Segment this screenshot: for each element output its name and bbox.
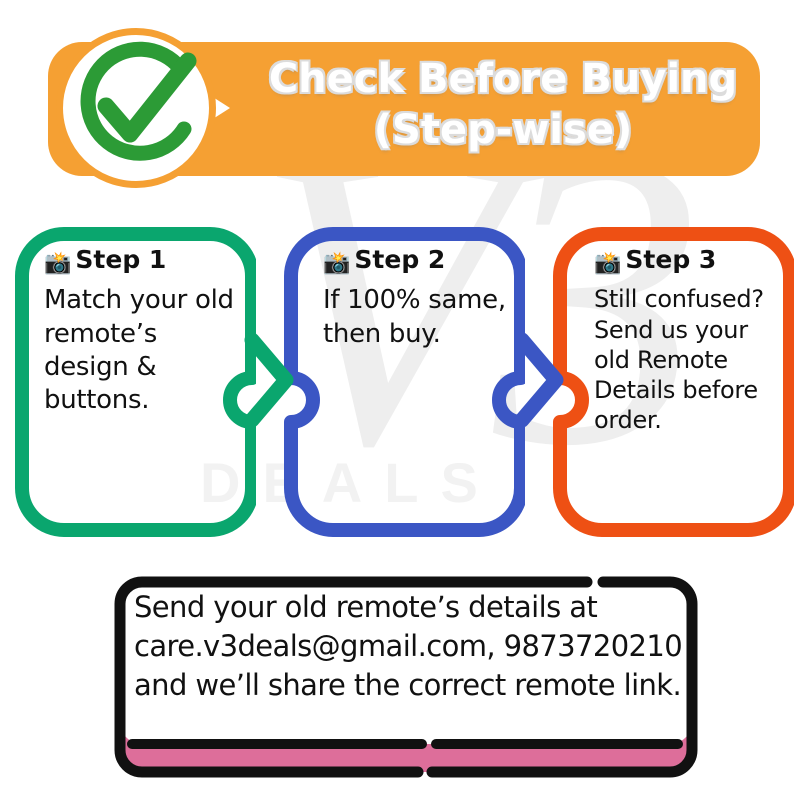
header-title: Check Before Buying (Step-wise) — [253, 54, 753, 156]
header-banner: Check Before Buying (Step-wise) — [48, 28, 760, 176]
step-card-3[interactable]: 📸Step 3 Still confused? Send us your old… — [552, 226, 794, 538]
step-card-3-body: 📸Step 3 Still confused? Send us your old… — [594, 246, 784, 435]
step-2-text: If 100% same, then buy. — [323, 284, 513, 351]
camera-with-flash-icon: 📸 — [44, 251, 71, 276]
green-checkmark-circle-icon — [62, 34, 212, 184]
step-2-label: Step 2 — [354, 245, 445, 274]
step-1-text: Match your old remote’s design & buttons… — [44, 284, 234, 417]
header-title-line-1: Check Before Buying — [253, 54, 753, 105]
chevron-right-arrow-icon-2 — [510, 330, 570, 430]
step-card-1-body: 📸Step 1 Match your old remote’s design &… — [44, 246, 234, 417]
header-title-line-2: (Step-wise) — [253, 105, 753, 156]
step-1-heading: 📸Step 1 — [44, 246, 234, 276]
contact-note-box[interactable]: Send your old remote’s details at care.v… — [102, 572, 710, 778]
steps-row: 📸Step 1 Match your old remote’s design &… — [0, 226, 800, 546]
step-card-1[interactable]: 📸Step 1 Match your old remote’s design &… — [14, 226, 256, 538]
step-card-2[interactable]: 📸Step 2 If 100% same, then buy. — [283, 226, 525, 538]
step-3-label: Step 3 — [625, 245, 716, 274]
infographic-canvas: V3 DEALS Check Before Buying (Step-wise) — [0, 0, 800, 800]
contact-note-text: Send your old remote’s details at care.v… — [134, 588, 694, 705]
step-1-label: Step 1 — [75, 245, 166, 274]
camera-with-flash-icon: 📸 — [323, 251, 350, 276]
camera-with-flash-icon: 📸 — [594, 251, 621, 276]
step-2-heading: 📸Step 2 — [323, 246, 513, 276]
step-card-2-body: 📸Step 2 If 100% same, then buy. — [323, 246, 513, 351]
step-3-text: Still confused? Send us your old Remote … — [594, 284, 784, 435]
step-3-heading: 📸Step 3 — [594, 246, 784, 276]
chevron-right-arrow-icon-1 — [240, 330, 300, 430]
